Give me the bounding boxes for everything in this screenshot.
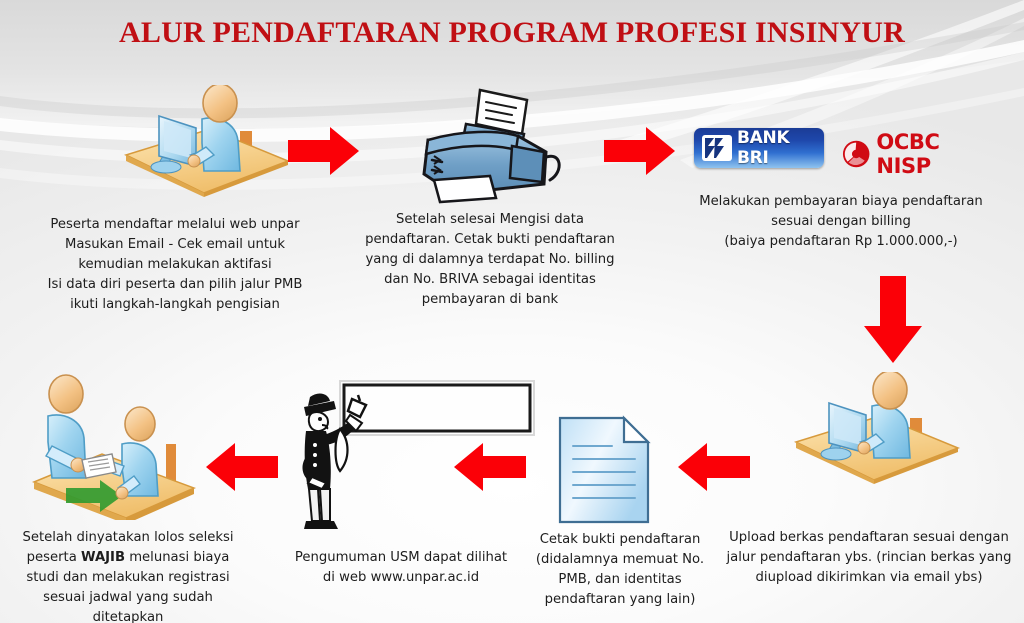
ocbc-logo-text: OCBC NISP xyxy=(876,130,994,178)
arrow-down-3 xyxy=(856,276,930,364)
bri-logo: BANK BRI xyxy=(694,128,824,168)
step-upload-caption: Upload berkas pendaftaran sesuai dengan … xyxy=(714,528,1024,588)
step-print-registration-caption: Cetak bukti pendaftaran (didalamnya memu… xyxy=(510,530,730,610)
bri-logo-text: BANK BRI xyxy=(737,128,824,168)
document-icon xyxy=(556,414,652,526)
two-people-at-desk-icon xyxy=(26,372,206,520)
step-print-proof-caption: Setelah selesai Mengisi data pendaftaran… xyxy=(350,210,630,310)
caption-bold: WAJIB xyxy=(81,550,125,565)
step-payment-caption: Melakukan pembayaran biaya pendaftaran s… xyxy=(676,192,1006,252)
page-title: ALUR PENDAFTARAN PROGRAM PROFESI INSINYU… xyxy=(0,16,1024,50)
ocbc-logo: OCBC NISP xyxy=(842,130,994,178)
arrow-left-4 xyxy=(676,442,750,492)
person-at-computer-icon xyxy=(782,372,972,492)
town-crier-icon xyxy=(296,385,376,535)
bank-logos-icon: BANK BRI OCBC NISP xyxy=(694,128,994,176)
ocbc-mark-icon xyxy=(842,139,870,169)
step-registration-caption: Setelah dinyatakan lolos seleksi peserta… xyxy=(0,528,256,623)
arrow-left-6 xyxy=(204,442,278,492)
bri-mark-icon xyxy=(702,135,732,161)
person-at-computer-icon xyxy=(112,85,302,205)
flowchart-poster: ALUR PENDAFTARAN PROGRAM PROFESI INSINYU… xyxy=(0,0,1024,623)
step-announcement-caption: Pengumuman USM dapat dilihat di web www.… xyxy=(288,548,514,588)
arrow-right-1 xyxy=(288,126,360,176)
step-register-caption: Peserta mendaftar melalui web unpar Masu… xyxy=(30,215,320,315)
printer-icon xyxy=(394,88,570,204)
arrow-left-5 xyxy=(452,442,526,492)
arrow-right-2 xyxy=(604,126,676,176)
